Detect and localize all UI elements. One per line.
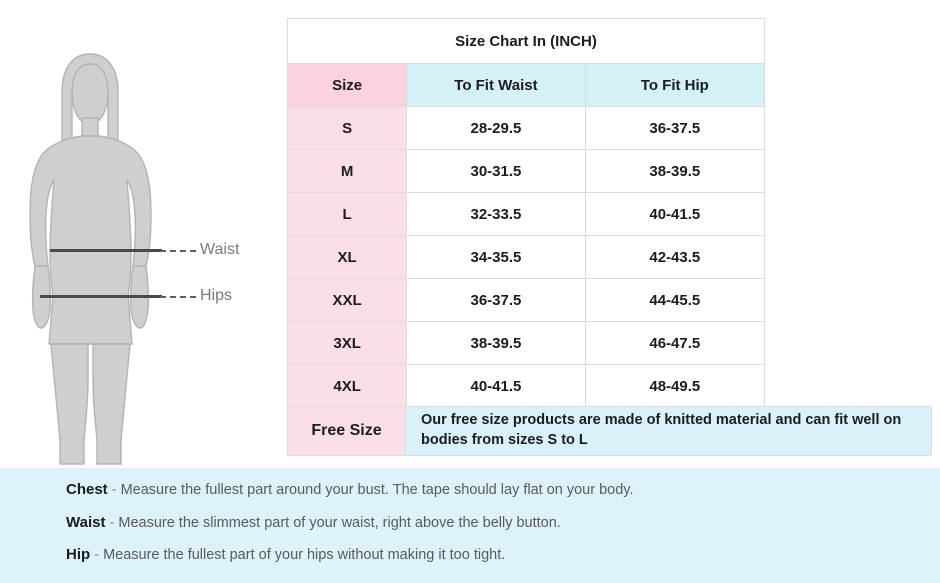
- column-header-hip: To Fit Hip: [585, 64, 764, 107]
- row-waist-value: 40-41.5: [407, 365, 585, 408]
- instruction-text: Measure the fullest part around your bus…: [121, 482, 634, 498]
- instruction-text: Measure the fullest part of your hips wi…: [103, 547, 505, 563]
- hips-measure-line: [40, 295, 162, 298]
- table-row: S 28-29.5 36-37.5: [288, 107, 765, 150]
- size-chart-table: Size Chart In (INCH) Size To Fit Waist T…: [287, 18, 765, 408]
- table-title-row: Size Chart In (INCH): [288, 19, 765, 64]
- row-size-label: L: [288, 193, 407, 236]
- hips-leader-line: [160, 296, 196, 298]
- row-hip-value: 38-39.5: [585, 150, 764, 193]
- instruction-term: Chest: [66, 481, 108, 498]
- table-row: XXL 36-37.5 44-45.5: [288, 279, 765, 322]
- column-header-waist: To Fit Waist: [407, 64, 585, 107]
- instruction-line: Chest - Measure the fullest part around …: [66, 482, 940, 498]
- measurement-instructions-panel: Chest - Measure the fullest part around …: [0, 468, 940, 583]
- instruction-dash: -: [94, 547, 99, 563]
- table-row: 3XL 38-39.5 46-47.5: [288, 322, 765, 365]
- free-size-label: Free Size: [287, 406, 406, 456]
- row-hip-value: 44-45.5: [585, 279, 764, 322]
- instruction-dash: -: [112, 482, 117, 498]
- row-waist-value: 34-35.5: [407, 236, 585, 279]
- waist-measure-line: [50, 249, 162, 252]
- row-size-label: M: [288, 150, 407, 193]
- hips-figure-label: Hips: [200, 287, 232, 305]
- table-row: L 32-33.5 40-41.5: [288, 193, 765, 236]
- table-title: Size Chart In (INCH): [288, 19, 765, 64]
- instruction-text: Measure the slimmest part of your waist,…: [118, 515, 560, 531]
- row-size-label: S: [288, 107, 407, 150]
- instruction-term: Waist: [66, 514, 105, 531]
- free-size-row: Free Size Our free size products are mad…: [287, 406, 932, 456]
- row-hip-value: 36-37.5: [585, 107, 764, 150]
- table-header-row: Size To Fit Waist To Fit Hip: [288, 64, 765, 107]
- row-waist-value: 28-29.5: [407, 107, 585, 150]
- row-size-label: 4XL: [288, 365, 407, 408]
- row-waist-value: 30-31.5: [407, 150, 585, 193]
- free-size-description: Our free size products are made of knitt…: [406, 406, 932, 456]
- instruction-term: Hip: [66, 546, 90, 563]
- instruction-line: Waist - Measure the slimmest part of you…: [66, 515, 940, 531]
- row-waist-value: 38-39.5: [407, 322, 585, 365]
- column-header-size: Size: [288, 64, 407, 107]
- table-row: XL 34-35.5 42-43.5: [288, 236, 765, 279]
- waist-figure-label: Waist: [200, 241, 239, 259]
- body-figure-area: Waist Hips: [0, 0, 287, 470]
- row-waist-value: 36-37.5: [407, 279, 585, 322]
- row-hip-value: 40-41.5: [585, 193, 764, 236]
- table-row: 4XL 40-41.5 48-49.5: [288, 365, 765, 408]
- instruction-dash: -: [109, 515, 114, 531]
- row-size-label: XXL: [288, 279, 407, 322]
- row-waist-value: 32-33.5: [407, 193, 585, 236]
- size-chart-page: Waist Hips Size Chart In (INCH) Size To …: [0, 0, 940, 583]
- table-row: M 30-31.5 38-39.5: [288, 150, 765, 193]
- waist-leader-line: [160, 250, 196, 252]
- row-hip-value: 48-49.5: [585, 365, 764, 408]
- row-hip-value: 46-47.5: [585, 322, 764, 365]
- instruction-line: Hip - Measure the fullest part of your h…: [66, 547, 940, 563]
- row-size-label: 3XL: [288, 322, 407, 365]
- row-hip-value: 42-43.5: [585, 236, 764, 279]
- row-size-label: XL: [288, 236, 407, 279]
